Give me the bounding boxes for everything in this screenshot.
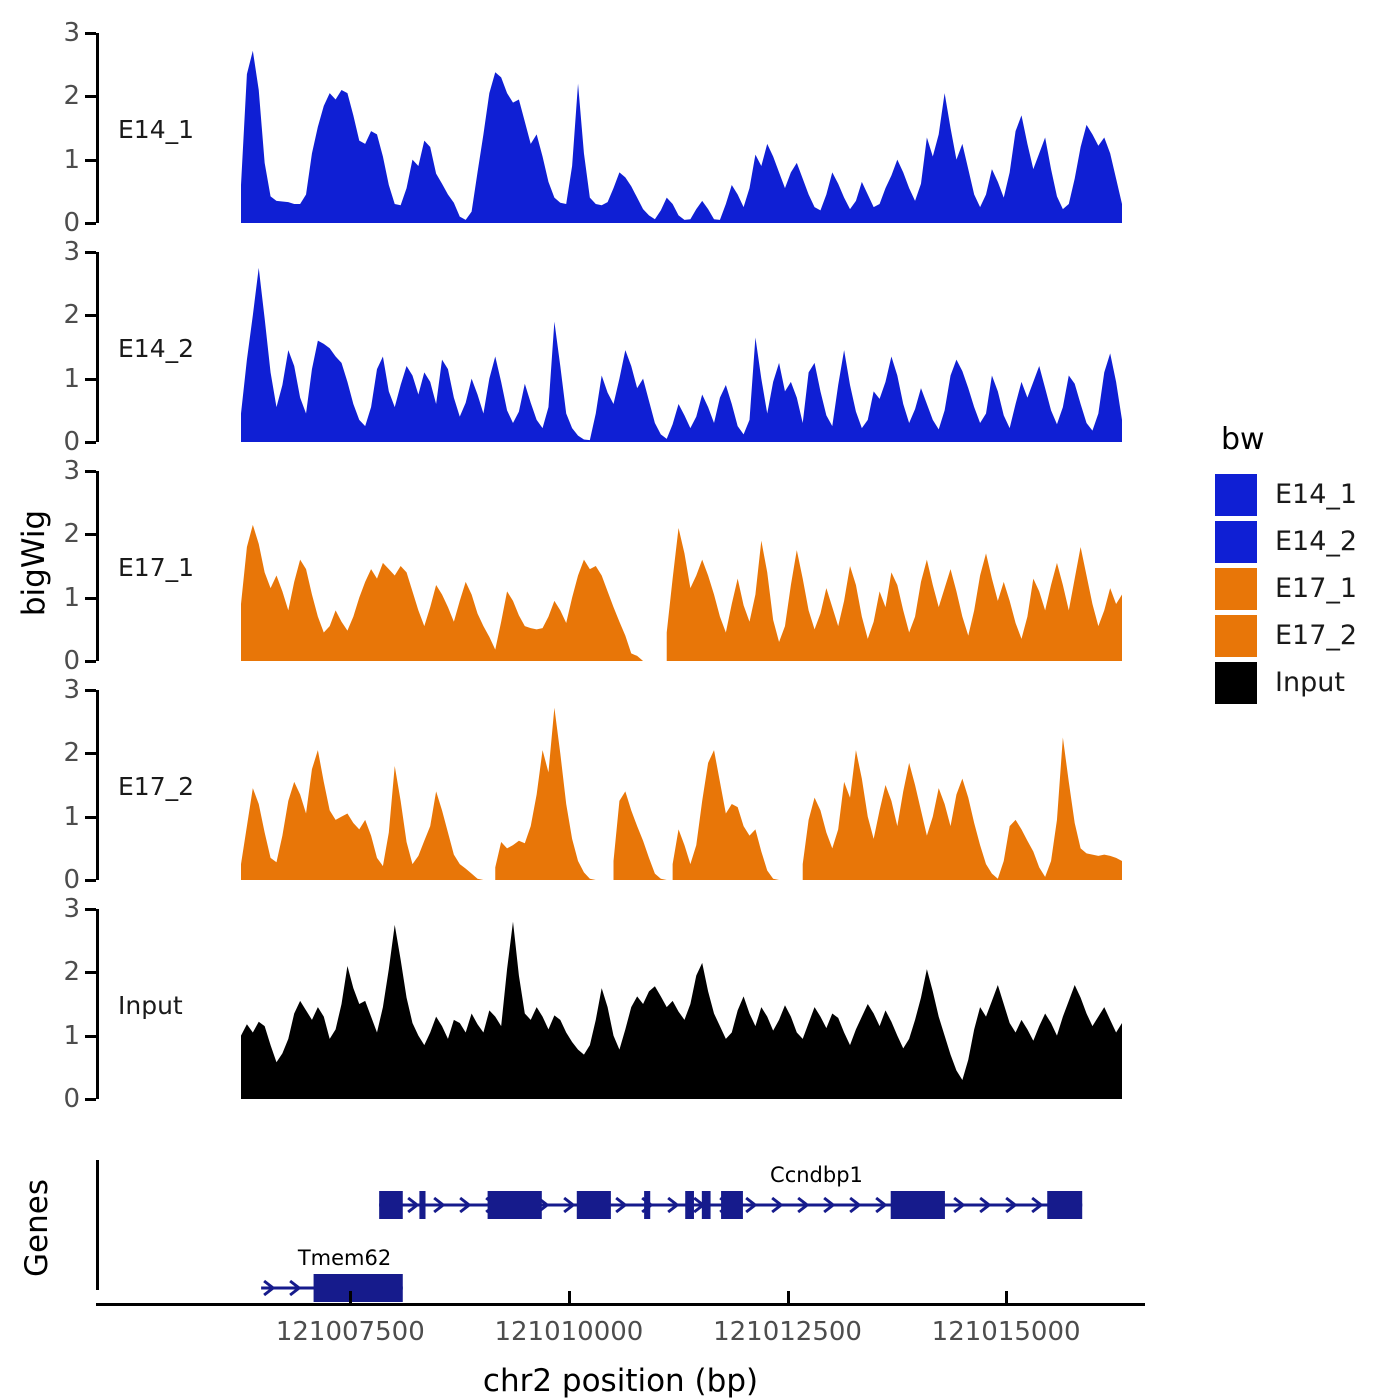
x-tick-label: 121015000 <box>932 1317 1081 1347</box>
gene-exon <box>488 1191 542 1219</box>
coverage-panel-e17_1: 0123E17_1 <box>96 471 1152 661</box>
legend-swatch-icon <box>1215 662 1257 704</box>
y-tick-mark <box>85 441 96 444</box>
gene-exon <box>379 1191 403 1219</box>
x-tick-mark <box>787 1291 790 1303</box>
track-label-e17_1: E17_1 <box>118 553 194 582</box>
y-axis-line <box>96 33 99 223</box>
x-tick-label: 121012500 <box>713 1317 862 1347</box>
legend-item-input[interactable]: Input <box>1215 659 1357 706</box>
track-label-e14_2: E14_2 <box>118 334 194 363</box>
y-tick-label: 1 <box>63 585 80 611</box>
y-tick-mark <box>85 159 96 162</box>
gene-exon <box>891 1191 945 1219</box>
y-tick-label: 3 <box>63 896 80 922</box>
coverage-panel-e14_1: 0123E14_1 <box>96 33 1152 223</box>
y-tick-label: 2 <box>63 959 80 985</box>
y-tick-label: 1 <box>63 804 80 830</box>
track-label-input: Input <box>118 991 183 1020</box>
gene-label-ccndbp1: Ccndbp1 <box>770 1163 863 1187</box>
legend-item-e17_1[interactable]: E17_1 <box>1215 565 1357 612</box>
y-tick-label: 0 <box>63 1086 80 1112</box>
gene-exon <box>721 1191 743 1219</box>
y-tick-mark <box>85 1098 96 1101</box>
y-tick-mark <box>85 971 96 974</box>
y-tick-mark <box>85 32 96 35</box>
y-tick-mark <box>85 470 96 473</box>
y-tick-mark <box>85 251 96 254</box>
y-tick-label: 0 <box>63 210 80 236</box>
genome-browser-figure: bigWig Genes 0123E14_10123E14_20123E17_1… <box>0 0 1400 1400</box>
y-tick-label: 1 <box>63 1023 80 1049</box>
legend: bw E14_1E14_2E17_1E17_2Input <box>1215 425 1357 706</box>
legend-label: E17_2 <box>1275 620 1357 651</box>
legend-title: bw <box>1221 425 1357 455</box>
gene-exon <box>419 1191 425 1219</box>
y-tick-mark <box>85 816 96 819</box>
legend-swatch-icon <box>1215 474 1257 516</box>
y-tick-mark <box>85 597 96 600</box>
y-tick-label: 3 <box>63 458 80 484</box>
legend-item-e14_2[interactable]: E14_2 <box>1215 518 1357 565</box>
y-tick-label: 2 <box>63 740 80 766</box>
x-tick-label: 121007500 <box>276 1317 425 1347</box>
y-tick-label: 0 <box>63 867 80 893</box>
y-tick-mark <box>85 879 96 882</box>
gene-exon <box>1047 1191 1082 1219</box>
gene-exon <box>702 1191 711 1219</box>
coverage-panel-e17_2: 0123E17_2 <box>96 690 1152 880</box>
y-tick-label: 1 <box>63 147 80 173</box>
legend-item-e14_1[interactable]: E14_1 <box>1215 471 1357 518</box>
track-label-e14_1: E14_1 <box>118 115 194 144</box>
legend-label: E14_2 <box>1275 526 1357 557</box>
y-tick-mark <box>85 752 96 755</box>
legend-label: E14_1 <box>1275 479 1357 510</box>
y-tick-label: 1 <box>63 366 80 392</box>
gene-exon <box>314 1274 403 1302</box>
y-tick-mark <box>85 314 96 317</box>
coverage-area-e14_1 <box>241 33 1122 223</box>
y-tick-mark <box>85 378 96 381</box>
y-tick-label: 0 <box>63 648 80 674</box>
y-tick-label: 0 <box>63 429 80 455</box>
gene-exon <box>577 1191 611 1219</box>
track-label-e17_2: E17_2 <box>118 772 194 801</box>
y-tick-label: 2 <box>63 83 80 109</box>
x-axis-line <box>96 1303 1145 1306</box>
gene-models-svg <box>0 1160 1155 1320</box>
legend-item-e17_2[interactable]: E17_2 <box>1215 612 1357 659</box>
coverage-panel-input: 0123Input <box>96 909 1152 1099</box>
x-tick-mark <box>1005 1291 1008 1303</box>
y-tick-mark <box>85 533 96 536</box>
y-tick-mark <box>85 660 96 663</box>
x-tick-label: 121010000 <box>494 1317 643 1347</box>
x-tick-mark <box>568 1291 571 1303</box>
coverage-area-e14_2 <box>241 252 1122 442</box>
coverage-panel-e14_2: 0123E14_2 <box>96 252 1152 442</box>
coverage-area-e17_2 <box>241 690 1122 880</box>
coverage-area-input <box>241 909 1122 1099</box>
y-tick-label: 2 <box>63 302 80 328</box>
y-tick-label: 3 <box>63 239 80 265</box>
gene-exon <box>685 1191 694 1219</box>
legend-items: E14_1E14_2E17_1E17_2Input <box>1215 471 1357 706</box>
y-tick-label: 3 <box>63 677 80 703</box>
gene-exon <box>644 1191 650 1219</box>
y-tick-mark <box>85 1035 96 1038</box>
x-tick-mark <box>349 1291 352 1303</box>
y-tick-mark <box>85 908 96 911</box>
y-axis-line <box>96 690 99 880</box>
y-tick-label: 2 <box>63 521 80 547</box>
y-axis-line <box>96 471 99 661</box>
coverage-area-e17_1 <box>241 471 1122 661</box>
y-tick-label: 3 <box>63 20 80 46</box>
y-axis-title: bigWig <box>16 503 52 623</box>
legend-swatch-icon <box>1215 568 1257 610</box>
gene-label-tmem62: Tmem62 <box>298 1246 391 1270</box>
legend-label: E17_1 <box>1275 573 1357 604</box>
y-tick-mark <box>85 95 96 98</box>
y-tick-mark <box>85 222 96 225</box>
legend-swatch-icon <box>1215 521 1257 563</box>
x-axis-title: chr2 position (bp) <box>483 1363 758 1399</box>
y-tick-mark <box>85 689 96 692</box>
y-axis-line <box>96 252 99 442</box>
legend-swatch-icon <box>1215 615 1257 657</box>
y-axis-line <box>96 909 99 1099</box>
legend-label: Input <box>1275 667 1345 698</box>
